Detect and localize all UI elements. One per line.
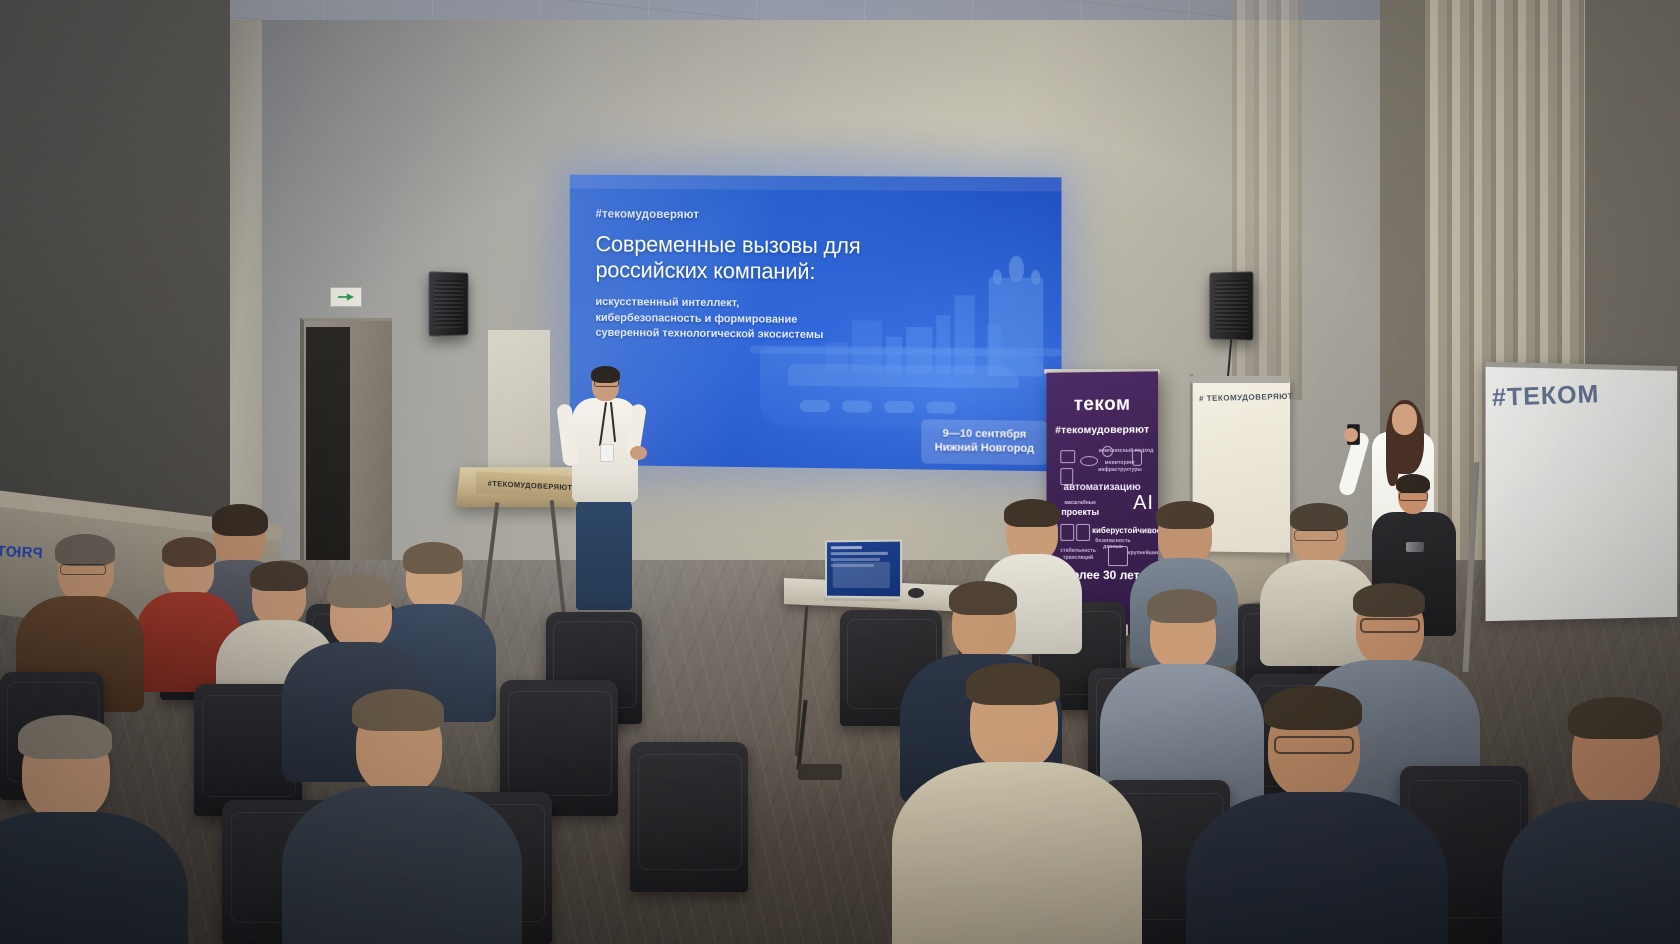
- laptop-title-bar: [831, 546, 862, 549]
- slide-date: 9—10 сентября: [935, 426, 1034, 442]
- banner-ai-label: AI: [1133, 492, 1154, 515]
- presenter-badge: [600, 444, 614, 462]
- glasses-icon: [1360, 618, 1420, 633]
- banner-word-stability-a: стабильность: [1052, 548, 1104, 554]
- presenter-legs: [576, 498, 632, 610]
- wall-speaker-left: [429, 271, 469, 336]
- slide-title: Современные вызовы для российских компан…: [595, 231, 884, 285]
- tshirt-logo: [1406, 542, 1424, 552]
- grid-icon: [1060, 450, 1075, 463]
- wall-speaker-right: [1209, 271, 1253, 340]
- whiteboard-written-text: #ТЕКОМ: [1492, 380, 1600, 413]
- glasses-icon: [1399, 492, 1428, 501]
- laptop-text-line: [831, 552, 888, 555]
- flipchart-clip: [1190, 376, 1290, 383]
- network-icon: [1108, 546, 1128, 566]
- cable-box: [798, 764, 842, 780]
- banner-word-major: крупнейшим: [1128, 550, 1158, 556]
- banner-logo: теком: [1047, 393, 1159, 416]
- glasses-icon: [60, 564, 106, 575]
- laptop-screen[interactable]: [825, 540, 902, 599]
- glasses-icon: [1294, 530, 1338, 541]
- checklist-icon: [1060, 524, 1074, 541]
- presenter-hand: [630, 446, 647, 460]
- banner-word-infrastructure: инфраструктуры: [1094, 467, 1146, 473]
- banner-word-projects-b: проекты: [1054, 507, 1106, 517]
- slide-subtitle-line-1: искусственный интеллект,: [595, 295, 844, 313]
- banner-word-cyber: киберустойчивость: [1092, 526, 1158, 535]
- crossed-doc-icon: [1076, 524, 1090, 541]
- attendee-head: [1392, 404, 1417, 435]
- slide-subtitle: искусственный интеллект, кибербезопаснос…: [595, 295, 844, 344]
- conference-photo: #текомудоверяют Современные вызовы для р…: [0, 0, 1680, 944]
- attendee-hand: [1344, 428, 1358, 442]
- banner-word-projects-a: масштабные: [1054, 500, 1106, 506]
- slide-title-line-2: российских компаний:: [595, 257, 884, 285]
- slide-subtitle-line-3: суверенной технологической экосистемы: [595, 326, 844, 344]
- glasses-icon: [1274, 736, 1354, 754]
- exit-arrow-icon: [338, 293, 354, 302]
- attendee-hair: [1396, 474, 1430, 493]
- laptop-text-line: [831, 558, 880, 561]
- banner-word-complex: комплексный подход: [1096, 448, 1156, 454]
- slide-content: #текомудоверяют Современные вызовы для р…: [595, 209, 1041, 346]
- laptop-window: [833, 562, 890, 588]
- computer-mouse[interactable]: [908, 588, 924, 598]
- lectern-label: #ТЕКОМУДОВЕРЯЮТ: [488, 478, 573, 491]
- banner-word-monitoring: мониторинг: [1094, 460, 1146, 466]
- lectern-backboard: [488, 330, 550, 470]
- slide-date-badge: 9—10 сентября Нижний Новгород: [922, 419, 1048, 465]
- slide-hashtag: #текомудоверяют: [595, 209, 1041, 224]
- presenter-glasses-icon: [594, 379, 619, 387]
- slide-title-line-1: Современные вызовы для: [595, 231, 884, 259]
- banner-hashtag: #текомудоверяют: [1047, 424, 1159, 437]
- mirrored-banner-text: РЯЮТ: [0, 543, 43, 562]
- chair[interactable]: [630, 742, 748, 892]
- exit-sign: [330, 287, 362, 307]
- slide-city: Нижний Новгород: [935, 441, 1034, 457]
